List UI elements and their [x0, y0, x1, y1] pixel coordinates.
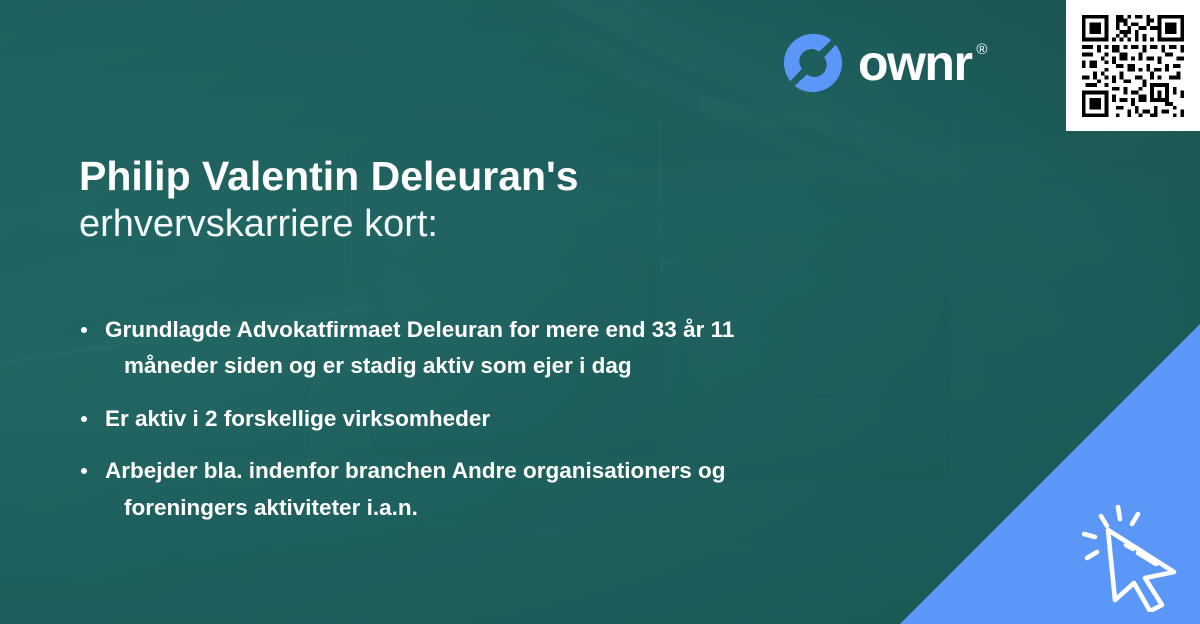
list-item: Er aktiv i 2 forskellige virksomheder [79, 401, 839, 437]
headline-line-2: erhvervskarriere kort: [79, 200, 839, 249]
list-item-line-1: Er aktiv i 2 forskellige virksomheder [105, 401, 839, 437]
ownr-circle-swoosh-icon [782, 32, 844, 94]
brand-logo[interactable]: ownr ® [782, 32, 987, 94]
career-summary-list: Grundlagde Advokatfirmaet Deleuran for m… [79, 312, 879, 526]
list-item: Arbejder bla. indenfor branchen Andre or… [79, 453, 839, 526]
list-item-line-2: foreningers aktiviteter i.a.n. [105, 490, 839, 526]
business-career-card: ownr ® Philip Valentin Deleuran's erhver… [0, 0, 1200, 624]
list-item-line-1: Grundlagde Advokatfirmaet Deleuran for m… [105, 312, 839, 348]
list-item-line-1: Arbejder bla. indenfor branchen Andre or… [105, 453, 839, 489]
list-item: Grundlagde Advokatfirmaet Deleuran for m… [79, 312, 839, 385]
bullet-marker [81, 327, 87, 333]
brand-name: ownr [858, 35, 971, 91]
list-item-line-2: måneder siden og er stadig aktiv som eje… [105, 348, 839, 384]
click-cursor-icon [1082, 504, 1190, 612]
brand-wordmark: ownr ® [858, 38, 987, 88]
registered-trademark-symbol: ® [976, 42, 987, 57]
headline-line-1: Philip Valentin Deleuran's [79, 152, 839, 200]
page-title: Philip Valentin Deleuran's erhvervskarri… [79, 152, 839, 250]
bullet-marker [81, 468, 87, 474]
qr-code-icon[interactable] [1078, 11, 1188, 121]
bullet-marker [81, 416, 87, 422]
qr-code-panel[interactable] [1066, 0, 1200, 131]
